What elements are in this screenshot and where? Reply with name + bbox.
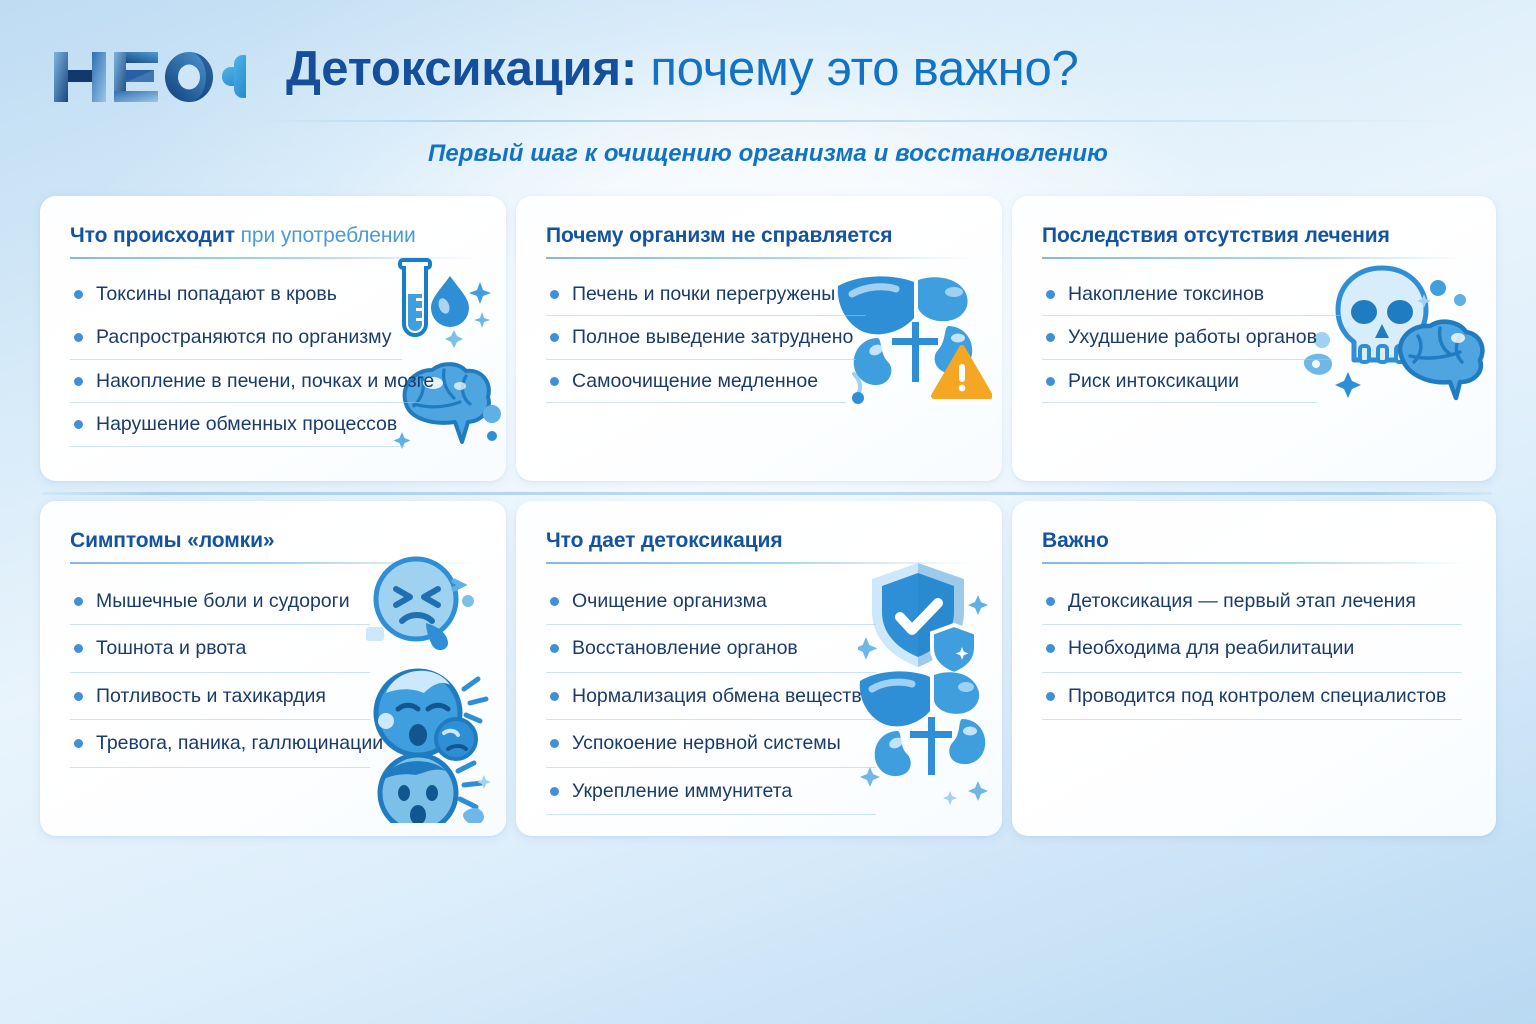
- card-title-strong: Что дает детоксикация: [546, 529, 783, 552]
- card-bullet-list: Печень и почки перегружены Полное выведе…: [546, 273, 972, 403]
- neo-plus-logo: [46, 44, 246, 110]
- bullet-dot-icon: [550, 597, 559, 606]
- list-item-label: Печень и почки перегружены: [572, 282, 835, 306]
- card-what-happens[interactable]: Что происходит при употреблении: [40, 196, 506, 481]
- list-item: Полное выведение затруднено: [546, 316, 856, 359]
- list-item: Восстановление органов: [546, 625, 876, 672]
- bullet-dot-icon: [74, 377, 83, 386]
- bullet-dot-icon: [1046, 597, 1055, 606]
- card-title: Важно: [1042, 529, 1466, 553]
- list-item-label: Нарушение обменных процессов: [96, 412, 397, 436]
- page-subtitle: Первый шаг к очищению организма и восста…: [0, 140, 1536, 168]
- list-item: Потливость и тахикардия: [70, 673, 370, 720]
- page-title-emphasis: Детоксикация:: [286, 42, 637, 96]
- list-item: Накопление токсинов: [1042, 273, 1342, 316]
- card-title: Последствия отсутствия лечения: [1042, 224, 1466, 248]
- card-title-underline: [1042, 257, 1466, 259]
- card-title-strong: Важно: [1042, 529, 1109, 552]
- page-title-rest: почему это важно?: [637, 42, 1079, 96]
- list-item-label: Тошнота и рвота: [96, 636, 246, 660]
- list-item: Тревога, паника, галлюцинации: [70, 720, 370, 767]
- bullet-dot-icon: [1046, 290, 1055, 299]
- list-item-label: Ухудшение работы органов: [1068, 325, 1317, 349]
- list-item-label: Накопление в печени, почках и мозге: [96, 369, 434, 393]
- card-why-body-fails[interactable]: Почему организм не справляется: [516, 196, 1002, 481]
- list-item: Токсины попадают в кровь: [70, 273, 400, 316]
- bullet-dot-icon: [74, 692, 83, 701]
- card-title-strong: Почему организм не справляется: [546, 224, 892, 247]
- card-title-underline: [546, 562, 972, 564]
- card-withdrawal-symptoms[interactable]: Симптомы «ломки»: [40, 501, 506, 836]
- list-item-label: Риск интоксикации: [1068, 369, 1239, 393]
- card-title-strong: Симптомы «ломки»: [70, 529, 274, 552]
- bullet-dot-icon: [1046, 377, 1055, 386]
- bullet-dot-icon: [550, 290, 559, 299]
- card-title-underline: [70, 257, 476, 259]
- list-item-label: Нормализация обмена веществ: [572, 684, 862, 708]
- list-item: Нормализация обмена веществ: [546, 673, 876, 720]
- list-item-label: Мышечные боли и судороги: [96, 589, 350, 613]
- list-item-label: Самоочищение медленное: [572, 369, 818, 393]
- bullet-dot-icon: [74, 333, 83, 342]
- list-item: Детоксикация — первый этап лечения: [1042, 578, 1462, 625]
- card-title-underline: [1042, 562, 1466, 564]
- card-bullet-list: Накопление токсинов Ухудшение работы орг…: [1042, 273, 1466, 403]
- list-item-label: Проводится под контролем специалистов: [1068, 684, 1446, 708]
- card-bullet-list: Токсины попадают в кровь Распространяютс…: [70, 273, 476, 447]
- card-title: Что происходит при употреблении: [70, 224, 476, 248]
- bullet-dot-icon: [550, 739, 559, 748]
- bullet-dot-icon: [550, 377, 559, 386]
- bullet-dot-icon: [550, 333, 559, 342]
- list-item-label: Распространяются по организму: [96, 325, 392, 349]
- list-item-label: Полное выведение затруднено: [572, 325, 853, 349]
- page-title: Детоксикация: почему это важно?: [286, 44, 1079, 95]
- list-item: Нарушение обменных процессов: [70, 403, 405, 446]
- cards-row-top: Что происходит при употреблении: [0, 196, 1536, 481]
- list-item: Ухудшение работы органов: [1042, 316, 1332, 359]
- list-item: Мышечные боли и судороги: [70, 578, 370, 625]
- card-bullet-list: Детоксикация — первый этап лечения Необх…: [1042, 578, 1466, 720]
- list-item-label: Накопление токсинов: [1068, 282, 1264, 306]
- list-item: Накопление в печени, почках и мозге: [70, 360, 420, 403]
- header-divider: [260, 120, 1475, 122]
- bullet-dot-icon: [550, 692, 559, 701]
- card-detox-benefits[interactable]: Что дает детоксикация: [516, 501, 1002, 836]
- bullet-dot-icon: [74, 739, 83, 748]
- list-item-label: Успокоение нервной системы: [572, 731, 841, 755]
- card-title-underline: [546, 257, 972, 259]
- bullet-dot-icon: [74, 597, 83, 606]
- card-title-soft: при употреблении: [235, 224, 416, 247]
- list-item-label: Необходима для реабилитации: [1068, 636, 1354, 660]
- list-item: Укрепление иммунитета: [546, 768, 876, 815]
- list-item: Самоочищение медленное: [546, 360, 846, 403]
- bullet-dot-icon: [1046, 644, 1055, 653]
- cards-row-bottom: Симптомы «ломки»: [0, 501, 1536, 836]
- card-bullet-list: Очищение организма Восстановление органо…: [546, 578, 972, 815]
- bullet-dot-icon: [1046, 692, 1055, 701]
- list-item: Успокоение нервной системы: [546, 720, 876, 767]
- card-title-underline: [70, 562, 476, 564]
- list-item: Очищение организма: [546, 578, 876, 625]
- bullet-dot-icon: [74, 644, 83, 653]
- card-title: Что дает детоксикация: [546, 529, 972, 553]
- card-title: Симптомы «ломки»: [70, 529, 476, 553]
- list-item-label: Очищение организма: [572, 589, 767, 613]
- card-bullet-list: Мышечные боли и судороги Тошнота и рвота…: [70, 578, 476, 768]
- list-item-label: Восстановление органов: [572, 636, 798, 660]
- bullet-dot-icon: [74, 290, 83, 299]
- card-consequences[interactable]: Последствия отсутствия лечения: [1012, 196, 1496, 481]
- list-item: Распространяются по организму: [70, 316, 402, 359]
- bullet-dot-icon: [550, 787, 559, 796]
- card-title-strong: Что происходит: [70, 224, 235, 247]
- list-item: Риск интоксикации: [1042, 360, 1317, 403]
- list-item-label: Токсины попадают в кровь: [96, 282, 337, 306]
- bullet-dot-icon: [550, 644, 559, 653]
- list-item: Печень и почки перегружены: [546, 273, 866, 316]
- bullet-dot-icon: [1046, 333, 1055, 342]
- list-item-label: Укрепление иммунитета: [572, 779, 792, 803]
- list-item-label: Тревога, паника, галлюцинации: [96, 731, 383, 755]
- list-item-label: Потливость и тахикардия: [96, 684, 326, 708]
- card-title-strong: Последствия отсутствия лечения: [1042, 224, 1390, 247]
- list-item: Тошнота и рвота: [70, 625, 370, 672]
- card-important[interactable]: Важно Детоксикация — первый этап лечения…: [1012, 501, 1496, 836]
- row-divider: [42, 492, 1492, 495]
- list-item: Проводится под контролем специалистов: [1042, 673, 1462, 720]
- cards-grid: Что происходит при употреблении: [0, 196, 1536, 836]
- card-title: Почему организм не справляется: [546, 224, 972, 248]
- bullet-dot-icon: [74, 420, 83, 429]
- page-header: Детоксикация: почему это важно? Первый ш…: [0, 0, 1536, 190]
- list-item-label: Детоксикация — первый этап лечения: [1068, 589, 1416, 613]
- list-item: Необходима для реабилитации: [1042, 625, 1462, 672]
